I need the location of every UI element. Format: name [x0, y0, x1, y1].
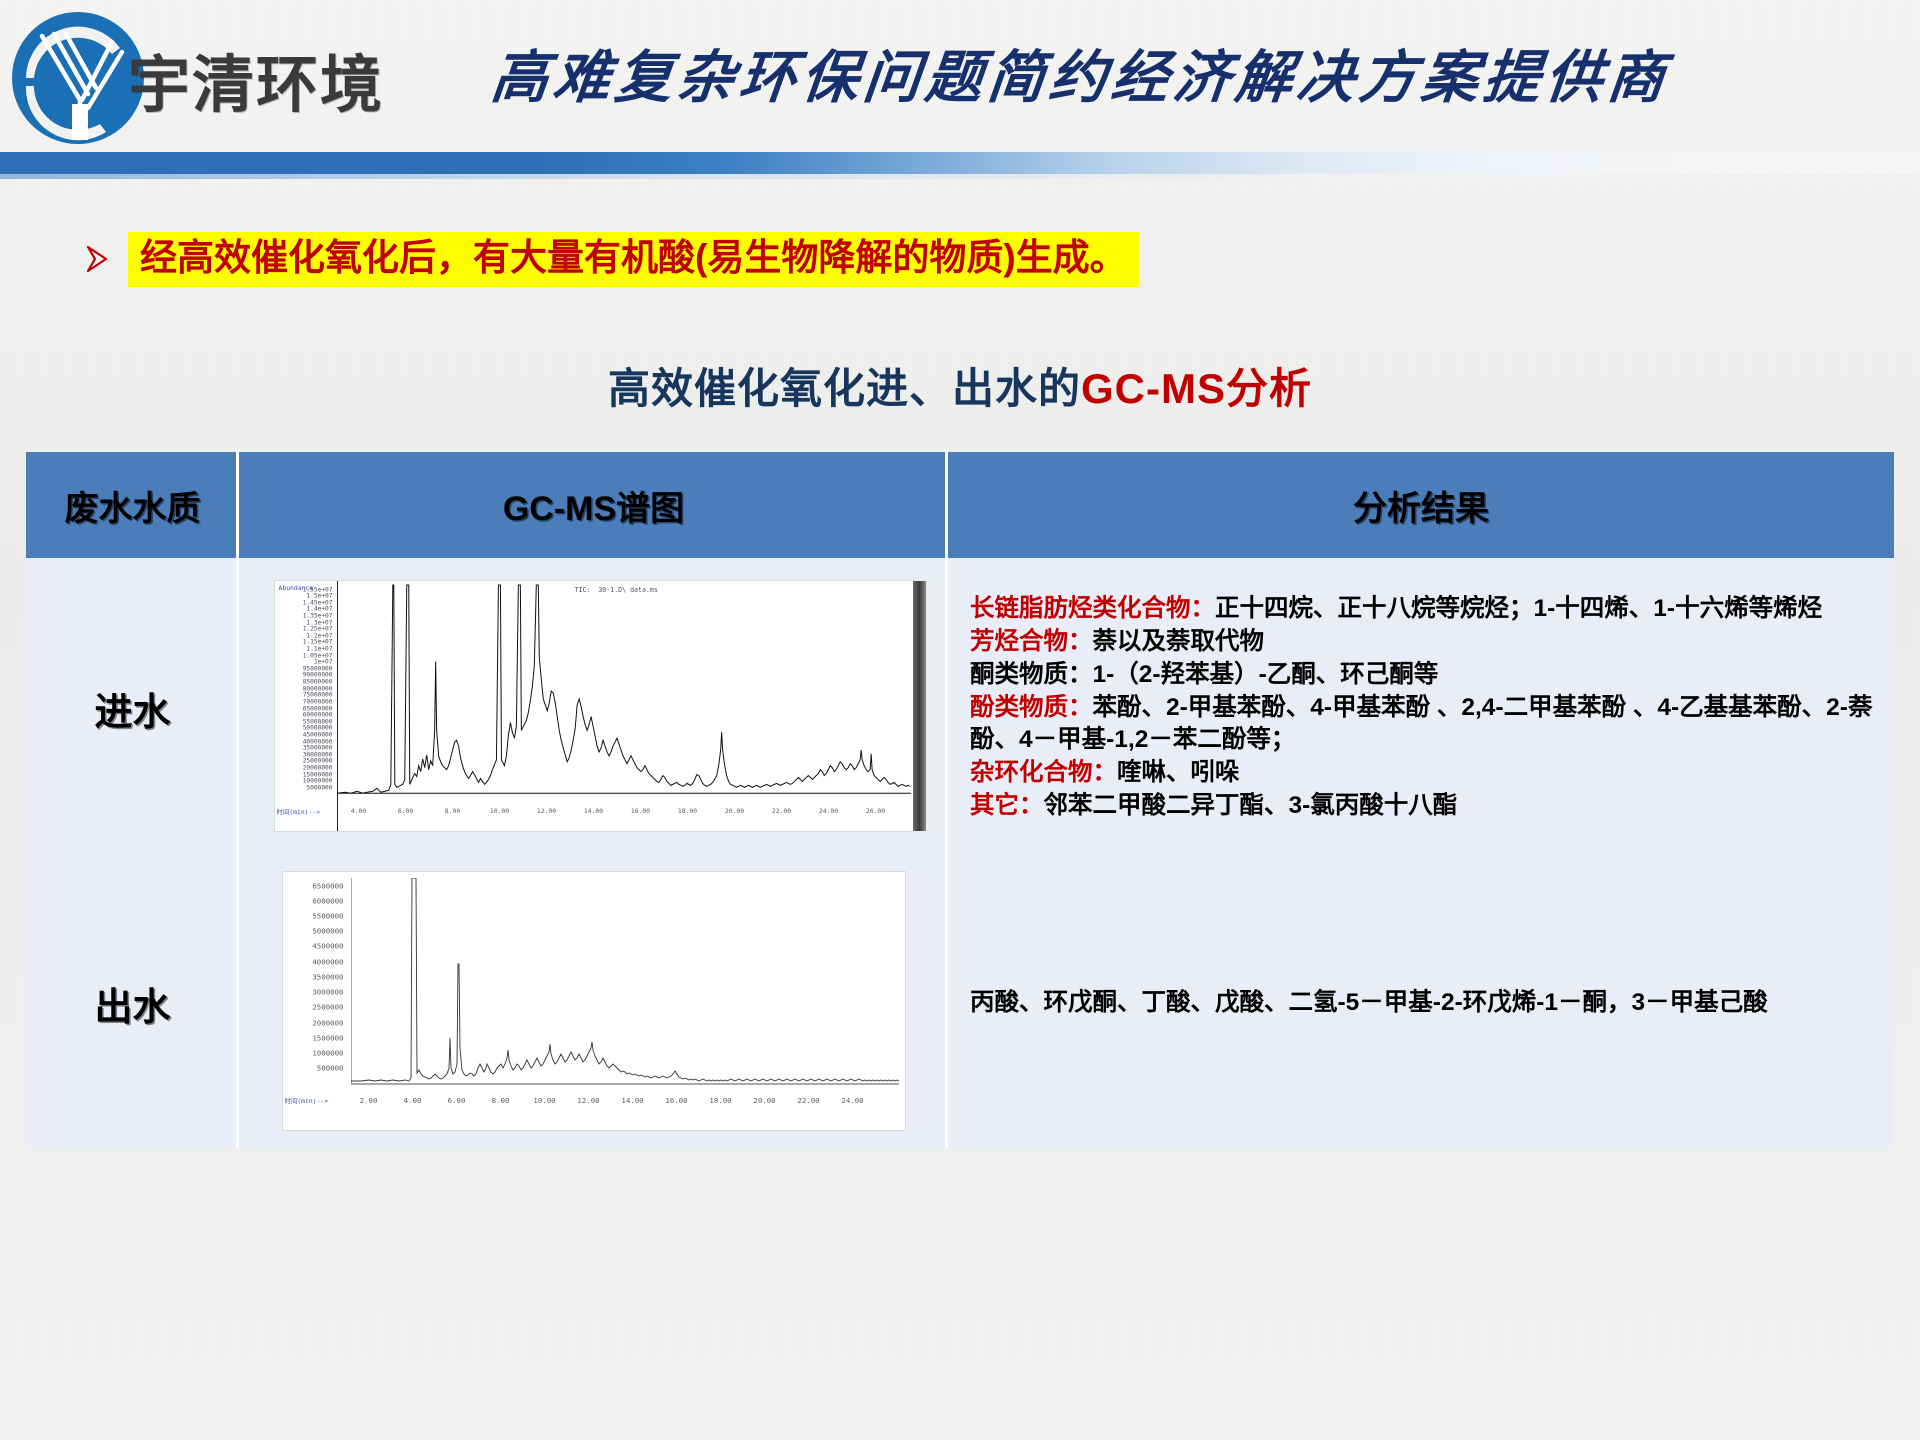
- column-header-gcms-spectrum: GC-MS谱图: [239, 452, 948, 558]
- x-axis-tick-label: 12.00: [537, 805, 556, 815]
- row-label-effluent: 出水: [26, 858, 239, 1148]
- x-axis-tick-label: 4.00: [351, 805, 366, 815]
- y-axis-tick-label: 45000000: [303, 731, 335, 738]
- x-axis-tick-label: 2.00: [360, 1094, 378, 1105]
- y-axis-tick-label: 70000000: [303, 698, 335, 705]
- result-value: 邻苯二甲酸二异丁酯、3-氯丙酸十八酯: [1044, 792, 1458, 819]
- x-axis-tick-label: 8.00: [492, 1094, 510, 1105]
- y-axis-tick-label: 95000000: [303, 665, 335, 672]
- y-axis-tick-label: 1.35e+07: [303, 612, 335, 619]
- influent-analysis-result: 长链脂肪烃类化合物：正十四烷、正十八烷等烷烃；1-十四烯、1-十六烯等烯烃 芳烃…: [948, 558, 1894, 858]
- result-value: 萘以及萘取代物: [1093, 628, 1265, 655]
- effluent-gcms-chromatogram: 5000001000000150000020000002500000300000…: [282, 871, 906, 1131]
- y-axis-tick-label: 5000000: [306, 784, 334, 791]
- x-axis-tick-label: 6.00: [398, 805, 413, 815]
- gcms-analysis-table: 废水水质 GC-MS谱图 分析结果 进水 Abundance 500000010…: [26, 452, 1894, 1148]
- row-label-influent: 进水: [26, 558, 239, 858]
- x-axis-tick-label: 14.00: [621, 1094, 643, 1105]
- y-axis-tick-label: 1.5e+07: [306, 593, 334, 600]
- result-value: 正十四烷、正十八烷等烷烃；1-十四烯、1-十六烯等烯烃: [1215, 595, 1822, 622]
- y-axis-tick-label: 1.15e+07: [303, 639, 335, 646]
- y-axis-tick-label: 1.55e+07: [303, 586, 335, 593]
- result-value: 酮类物质：1-（2-羟苯基）-乙酮、环己酮等: [970, 661, 1438, 688]
- y-axis-tick-label: 50000000: [303, 725, 335, 732]
- company-logo-icon: [8, 8, 148, 148]
- y-axis-tick-label: 500000: [317, 1064, 347, 1073]
- effluent-analysis-result: 丙酸、环戊酮、丁酸、戊酸、二氢-5－甲基-2-环戊烯-1－酮，3－甲基己酸: [948, 858, 1894, 1148]
- result-value: 苯酚、2-甲基苯酚、4-甲基苯酚 、2,4-二甲基苯酚 、4-乙基基苯酚、2-萘…: [970, 694, 1872, 754]
- header-divider-secondary: [0, 174, 1920, 179]
- y-axis-tick-label: 1000000: [312, 1049, 346, 1058]
- chart-scroll-edge[interactable]: [913, 581, 926, 831]
- y-axis-tick-label: 25000000: [303, 758, 335, 765]
- y-axis-tick-label: 15000000: [303, 771, 335, 778]
- x-axis-tick-label: 10.00: [533, 1094, 555, 1105]
- result-category-label: 酚类物质：: [970, 694, 1093, 721]
- y-axis-tick-label: 1.1e+07: [306, 646, 334, 653]
- y-axis-tick-label: 4500000: [312, 942, 346, 951]
- y-axis-tick-label: 80000000: [303, 685, 335, 692]
- brand-name: 宇清环境: [128, 34, 384, 124]
- y-axis-tick-label: 2000000: [312, 1018, 346, 1027]
- x-axis-tick-label: 26.00: [866, 805, 885, 815]
- y-axis-tick-label: 40000000: [303, 738, 335, 745]
- table-header-row: 废水水质 GC-MS谱图 分析结果: [26, 452, 1894, 558]
- y-axis-tick-label: 90000000: [303, 672, 335, 679]
- x-axis-tick-label: 10.00: [490, 805, 509, 815]
- x-axis-tick-label: 6.00: [448, 1094, 466, 1105]
- y-axis-tick-label: 1.45e+07: [303, 599, 335, 606]
- slide-header: 宇清环境 高难复杂环保问题简约经济解决方案提供商: [0, 0, 1920, 160]
- y-axis-tick-label: 5500000: [312, 911, 346, 920]
- y-axis-tick-label: 2500000: [312, 1003, 346, 1012]
- x-axis-tick-label: 18.00: [709, 1094, 731, 1105]
- table-row: 出水 5000001000000150000020000002500000300…: [26, 858, 1894, 1148]
- x-axis-tick-label: 24.00: [819, 805, 838, 815]
- y-axis-tick-label: 6000000: [312, 896, 346, 905]
- table-row: 进水 Abundance 500000010000000150000002000…: [26, 558, 1894, 858]
- x-axis-tick-label: 22.00: [797, 1094, 819, 1105]
- y-axis-tick-label: 1.05e+07: [303, 652, 335, 659]
- column-header-wastewater-quality: 废水水质: [26, 452, 239, 558]
- result-category-label: 杂环化合物：: [970, 759, 1117, 786]
- x-axis-tick-label: 20.00: [753, 1094, 775, 1105]
- y-axis-tick-label: 3500000: [312, 972, 346, 981]
- result-category-label: 芳烃合物：: [970, 628, 1093, 655]
- y-axis-tick-label: 1.3e+07: [306, 619, 334, 626]
- y-axis-tick-label: 1500000: [312, 1033, 346, 1042]
- x-axis-tick-label: 20.00: [725, 805, 744, 815]
- y-axis-tick-label: 5000000: [312, 927, 346, 936]
- y-axis-tick-label: 1.2e+07: [306, 632, 334, 639]
- column-header-analysis-result: 分析结果: [948, 452, 1894, 558]
- y-axis-tick-label: 1.25e+07: [303, 626, 335, 633]
- effluent-chromatogram-cell: 5000001000000150000020000002500000300000…: [239, 858, 948, 1148]
- x-axis-tick-label: 16.00: [631, 805, 650, 815]
- chevron-right-bullet-icon: [84, 244, 110, 274]
- y-axis-tick-label: 35000000: [303, 745, 335, 752]
- bullet-text: 经高效催化氧化后，有大量有机酸(易生物降解的物质)生成。: [128, 232, 1139, 287]
- y-axis-tick-label: 85000000: [303, 679, 335, 686]
- y-axis-tick-label: 3000000: [312, 988, 346, 997]
- result-category-label: 长链脂肪烃类化合物：: [970, 595, 1215, 622]
- page-title-main: 高效催化氧化进、出水的: [608, 365, 1081, 412]
- y-axis-tick-label: 60000000: [303, 712, 335, 719]
- y-axis-tick-label: 55000000: [303, 718, 335, 725]
- result-category-label: 其它：: [970, 792, 1044, 819]
- y-axis-tick-label: 4000000: [312, 957, 346, 966]
- y-axis-tick-label: 1e+07: [314, 659, 335, 666]
- page-title-highlight: GC-MS分析: [1081, 365, 1312, 412]
- header-divider: [0, 152, 1920, 174]
- y-axis-tick-label: 6500000: [312, 881, 346, 890]
- x-axis-tick-label: 4.00: [404, 1094, 422, 1105]
- influent-chromatogram-cell: Abundance 500000010000000150000002000000…: [239, 558, 948, 858]
- bullet-row: 经高效催化氧化后，有大量有机酸(易生物降解的物质)生成。: [84, 232, 1139, 287]
- x-axis-tick-label: 12.00: [577, 1094, 599, 1105]
- y-axis-tick-label: 20000000: [303, 765, 335, 772]
- influent-tic-trace: [337, 583, 911, 805]
- result-value: 丙酸、环戊酮、丁酸、戊酸、二氢-5－甲基-2-环戊烯-1－酮，3－甲基己酸: [970, 987, 1876, 1020]
- y-axis-tick-label: 65000000: [303, 705, 335, 712]
- y-axis-tick-label: 1.4e+07: [306, 606, 334, 613]
- y-axis-tick-label: 30000000: [303, 751, 335, 758]
- x-axis-tick-label: 24.00: [841, 1094, 863, 1105]
- company-slogan: 高难复杂环保问题简约经济解决方案提供商: [488, 32, 1675, 114]
- x-axis-tick-label: 8.00: [445, 805, 460, 815]
- effluent-tic-trace: [351, 878, 899, 1094]
- influent-gcms-chromatogram: Abundance 500000010000000150000002000000…: [274, 580, 914, 832]
- result-value: 喹啉、吲哚: [1117, 759, 1240, 786]
- x-axis-tick-label: 16.00: [665, 1094, 687, 1105]
- x-axis-tick-label: 18.00: [678, 805, 697, 815]
- page-title: 高效催化氧化进、出水的GC-MS分析: [0, 355, 1920, 416]
- y-axis-tick-label: 10000000: [303, 778, 335, 785]
- x-axis-tick-label: 22.00: [772, 805, 791, 815]
- y-axis-tick-label: 75000000: [303, 692, 335, 699]
- x-axis-tick-label: 14.00: [584, 805, 603, 815]
